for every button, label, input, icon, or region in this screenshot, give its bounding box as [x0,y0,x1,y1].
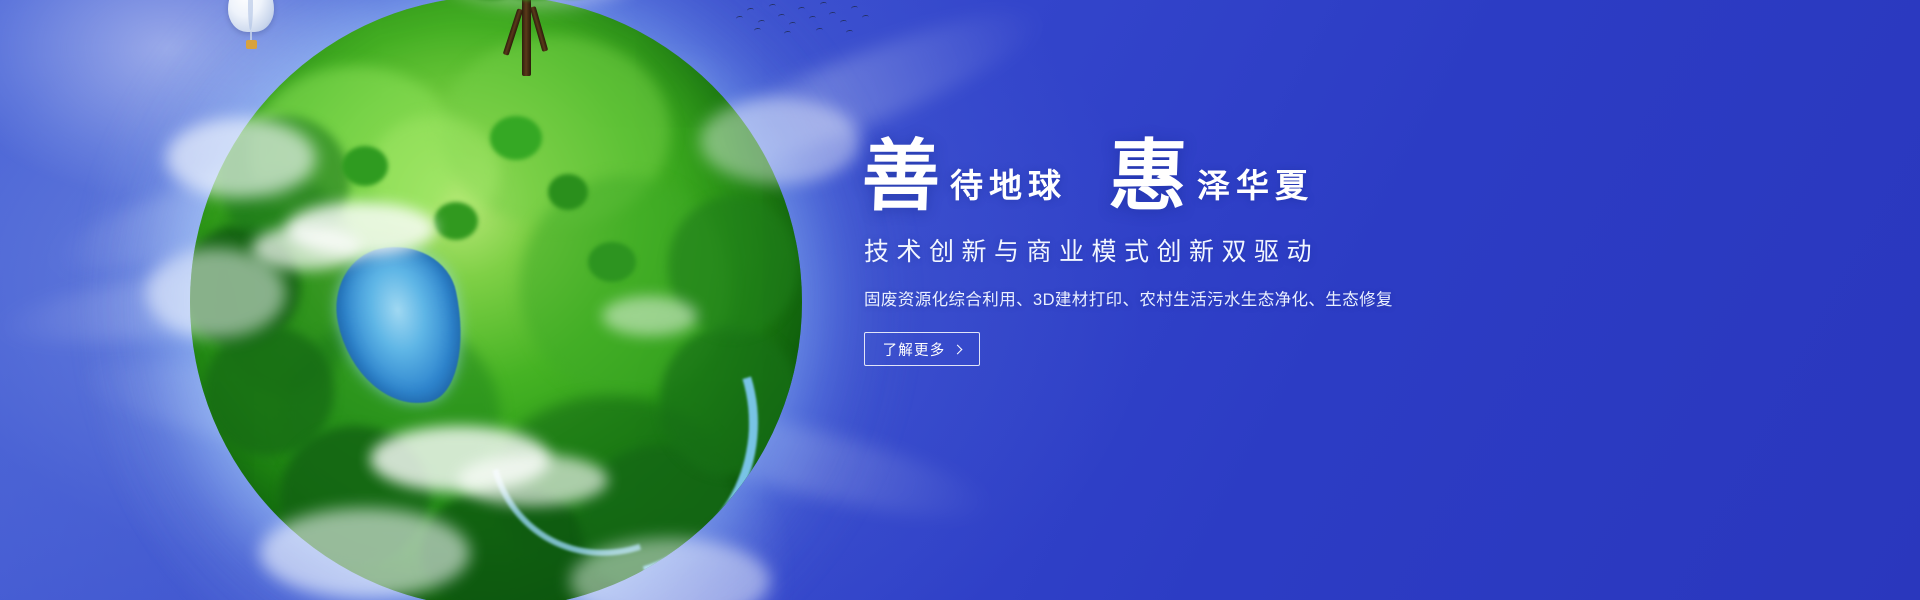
subtitle: 技术创新与商业模式创新双驱动 [864,232,1562,268]
headline-small-text-1: 待地球 [950,171,1067,204]
headline-phrase-two: 惠 泽华夏 [1109,140,1314,214]
headline-big-char-2: 惠 [1108,140,1189,214]
cloud-streak-5 [618,385,1002,539]
river-branch [443,255,780,600]
rim-cloud [570,538,770,600]
balloon-stripe [248,0,253,30]
tree-clump [342,146,388,186]
green-globe [190,0,802,600]
forest-rim [668,196,798,336]
tree-clump [434,202,478,240]
balloon-basket [246,40,257,49]
tree-clump [548,174,588,210]
forest-rim [580,446,740,596]
planet-cloud [458,454,608,506]
terrain-patch [210,176,360,396]
headline-big-char-1: 善 [861,140,942,214]
headline-phrase-one: 善 待地球 [862,140,1067,214]
cloud-streak-2 [0,206,632,364]
forest-rim [190,226,300,346]
forest-rim [660,326,800,476]
hero-banner: 善 待地球 惠 泽华夏 技术创新与商业模式创新双驱动 固废资源化综合利用、3D建… [0,0,1920,600]
rim-cloud [440,0,640,8]
planet-cloud [370,426,550,492]
planet-cloud [252,226,362,270]
learn-more-button[interactable]: 了解更多 [864,332,980,366]
headline-small-text-2: 泽华夏 [1197,171,1314,204]
description: 固废资源化综合利用、3D建材打印、农村生活污水生态净化、生态修复 [864,286,1562,310]
terrain-patch [520,176,730,396]
balloon-envelope [228,0,274,32]
headline: 善 待地球 惠 泽华夏 [862,118,1562,214]
learn-more-label: 了解更多 [883,339,946,360]
rim-cloud [166,118,316,198]
planet-cloud [286,202,436,256]
tree-trunk [522,0,531,76]
tree-branch [503,8,524,56]
forest-rim [280,426,430,566]
tree-clump [588,242,636,282]
lake [325,235,478,417]
balloon-rope [250,31,252,42]
terrain-patch [490,396,730,576]
terrain-patch [250,66,460,236]
bird-flock [736,0,876,38]
hero-content: 善 待地球 惠 泽华夏 技术创新与商业模式创新双驱动 固废资源化综合利用、3D建… [862,118,1562,366]
rim-cloud [700,98,860,184]
tiny-planet-artwork [140,0,852,600]
hot-air-balloon [228,0,274,56]
forest-rim [204,326,334,456]
chevron-right-icon [953,344,963,354]
terrain-patch [370,116,500,226]
cloud-streak-3 [68,337,692,523]
forest-rim [220,116,350,246]
forest-rim [420,486,590,600]
tree-branch [530,6,548,52]
river [384,208,802,600]
rim-cloud [260,508,470,598]
planet-cloud [602,296,698,336]
tree-clump [490,116,542,160]
cloud-streak-1 [41,25,739,304]
rim-cloud [146,248,286,338]
terrain-patch [440,36,670,226]
planet-glow [52,0,940,600]
terrain-patch [280,316,500,516]
hero-tree [440,0,620,68]
